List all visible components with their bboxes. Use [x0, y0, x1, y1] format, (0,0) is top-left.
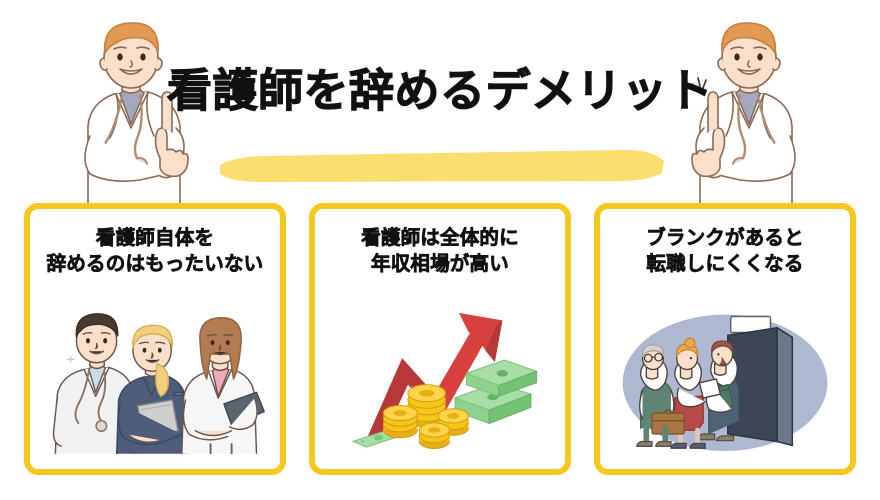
- three-medical-staff-icon: [30, 295, 280, 463]
- card-nurse-worth-keeping[interactable]: 看護師自体を 辞めるのはもったいない: [24, 203, 286, 475]
- card-3-title: ブランクがあると 転職しにくくなる: [646, 225, 804, 277]
- job-interview-queue-icon: [600, 295, 850, 463]
- card-2-title: 看護師は全体的に 年収相場が高い: [361, 225, 519, 277]
- infographic-root: 看護師を辞めるデメリット 看護師自体を 辞めるのはもったいない: [0, 0, 880, 500]
- header-section: 看護師を辞めるデメリット: [0, 0, 880, 200]
- title-underline-highlight: [218, 148, 666, 184]
- cards-row: 看護師自体を 辞めるのはもったいない: [0, 203, 880, 475]
- card-blank-period-difficulty[interactable]: ブランクがあると 転職しにくくなる: [594, 203, 856, 475]
- card-high-salary[interactable]: 看護師は全体的に 年収相場が高い: [309, 203, 571, 475]
- page-title: 看護師を辞めるデメリット: [0, 62, 880, 120]
- rising-arrow-with-money-icon: [315, 295, 565, 463]
- card-1-title: 看護師自体を 辞めるのはもったいない: [47, 225, 264, 277]
